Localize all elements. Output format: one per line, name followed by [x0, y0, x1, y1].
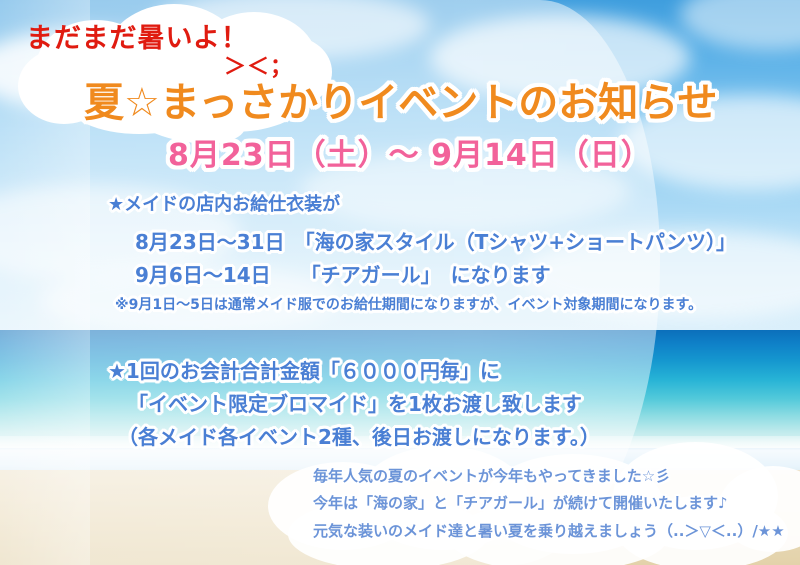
costume-section-note: ※9月1日〜5日は通常メイド服でのお給仕期間になりますが、イベント対象期間になり…: [115, 294, 702, 314]
footer-message-line-1: 毎年人気の夏のイベントが今年もやってきました☆彡: [313, 465, 670, 486]
costume-section-heading: ★メイドの店内お給仕衣装が: [108, 190, 340, 216]
costume-schedule-line-2: 9月6日〜14日 「チアガール」 になります: [135, 259, 551, 288]
event-date-range: 8月23日（土）〜 9月14日（日）: [168, 130, 800, 174]
event-poster: まだまだ暑いよ！ ＞＜； 夏☆まっさかりイベントのお知らせ 8月23日（土）〜 …: [0, 0, 800, 565]
bromide-section-line-1: ★1回のお会計合計金額「６０００円毎」に: [108, 355, 500, 384]
page-title: 夏☆まっさかりイベントのお知らせ: [84, 70, 784, 128]
footer-message-line-2: 今年は「海の家」と「チアガール」が続けて開催いたします♪: [313, 492, 728, 513]
footer-message-line-3: 元気な装いのメイド達と暑い夏を乗り越えましょう（..＞▽＜..）/★★: [313, 520, 785, 541]
costume-schedule-line-1: 8月23日〜31日 「海の家スタイル（Tシャツ+ショートパンツ）」: [135, 226, 736, 255]
bromide-section-line-2: 「イベント限定ブロマイド」を1枚お渡し致します: [128, 388, 582, 417]
